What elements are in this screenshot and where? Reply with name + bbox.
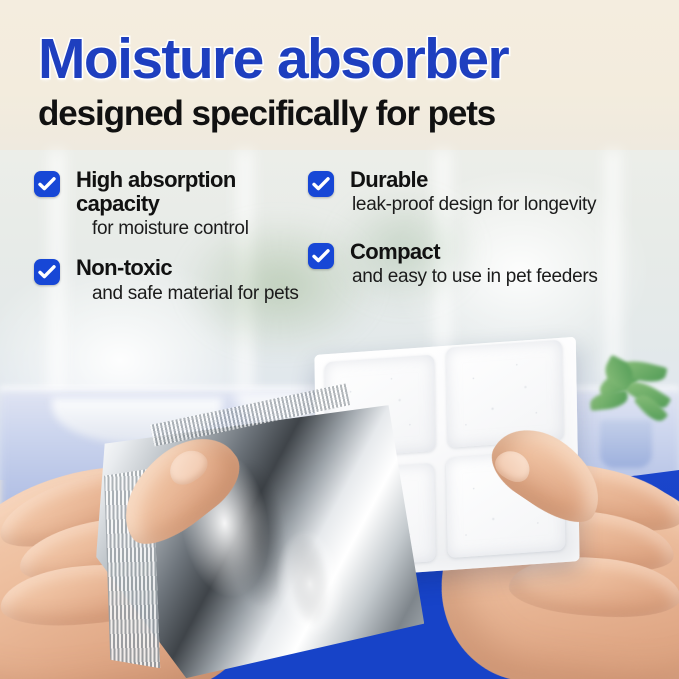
checkbox-checked-icon [308,171,334,197]
checkbox-checked-icon [34,259,60,285]
feature-heading: Non-toxic [76,256,302,280]
feature-column-left: High absorption capacity for moisture co… [34,168,302,319]
feature-column-right: Durable leak-proof design for longevity … [308,168,658,312]
product-marketing-image: Moisture absorber designed specifically … [0,0,679,679]
feature-durable: Durable leak-proof design for longevity [308,168,658,216]
feature-heading: Durable [350,168,658,192]
feature-list: High absorption capacity for moisture co… [0,168,679,368]
feature-detail: for moisture control [76,218,302,240]
feature-compact: Compact and easy to use in pet feeders [308,240,658,288]
feature-detail: and safe material for pets [76,283,302,305]
checkbox-checked-icon [308,243,334,269]
feature-high-absorption-capacity: High absorption capacity for moisture co… [34,168,302,240]
feature-detail: leak-proof design for longevity [350,194,658,216]
checkbox-checked-icon [34,171,60,197]
page-subtitle: designed specifically for pets [38,96,658,133]
page-title: Moisture absorber [38,30,658,88]
feature-non-toxic: Non-toxic and safe material for pets [34,256,302,304]
plant-pot [600,420,652,468]
feature-detail: and easy to use in pet feeders [350,266,658,288]
feature-heading: High absorption capacity [76,168,302,216]
feature-heading: Compact [350,240,658,264]
